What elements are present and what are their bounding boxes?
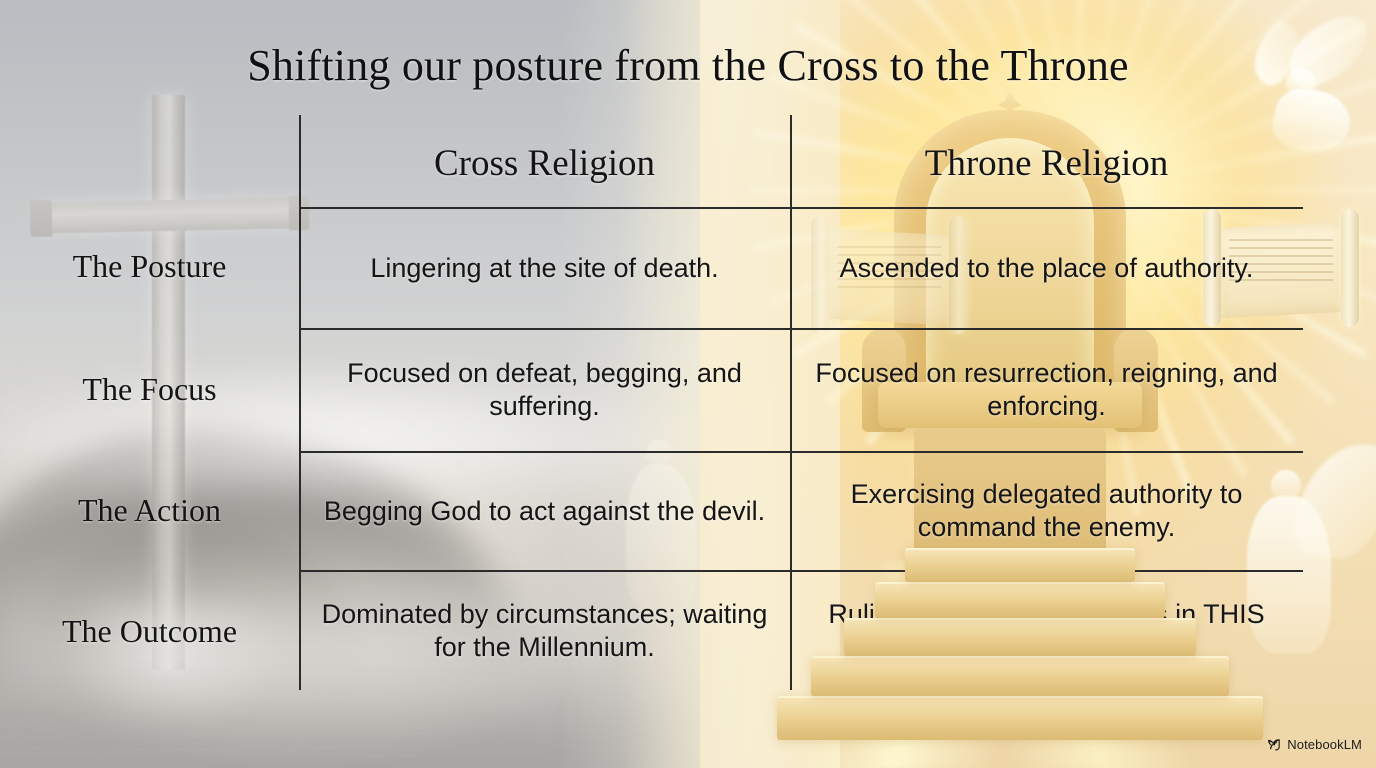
- cell-posture-cross: Lingering at the site of death.: [299, 211, 790, 325]
- row-label-the-focus: The Focus: [0, 371, 299, 408]
- row-label-the-action: The Action: [0, 492, 299, 529]
- slide-canvas: Shifting our posture from the Cross to t…: [0, 0, 1376, 768]
- column-header-throne: Throne Religion: [790, 136, 1303, 192]
- table-rule-1: [299, 328, 1303, 330]
- golden-step: [905, 548, 1135, 582]
- cell-focus-cross: Focused on defeat, begging, and sufferin…: [299, 332, 790, 448]
- notebooklm-watermark: NotebookLM: [1266, 737, 1362, 752]
- cell-action-cross: Begging God to act against the devil.: [299, 455, 790, 567]
- cell-outcome-cross: Dominated by circumstances; waiting for …: [299, 574, 790, 688]
- golden-step: [875, 582, 1165, 618]
- table-rule-header: [299, 207, 1303, 209]
- notebooklm-label: NotebookLM: [1287, 737, 1362, 752]
- cell-focus-throne: Focused on resurrection, reigning, and e…: [790, 332, 1303, 448]
- golden-step: [844, 618, 1196, 656]
- golden-step: [777, 696, 1263, 740]
- golden-step: [811, 656, 1229, 696]
- column-header-cross: Cross Religion: [299, 136, 790, 192]
- notebooklm-spiral-icon: [1266, 737, 1281, 752]
- row-label-the-outcome: The Outcome: [0, 613, 299, 650]
- row-label-the-posture: The Posture: [0, 248, 299, 285]
- table-rule-2: [299, 451, 1303, 453]
- table-rule-3: [299, 570, 1303, 572]
- cell-posture-throne: Ascended to the place of authority.: [790, 211, 1303, 325]
